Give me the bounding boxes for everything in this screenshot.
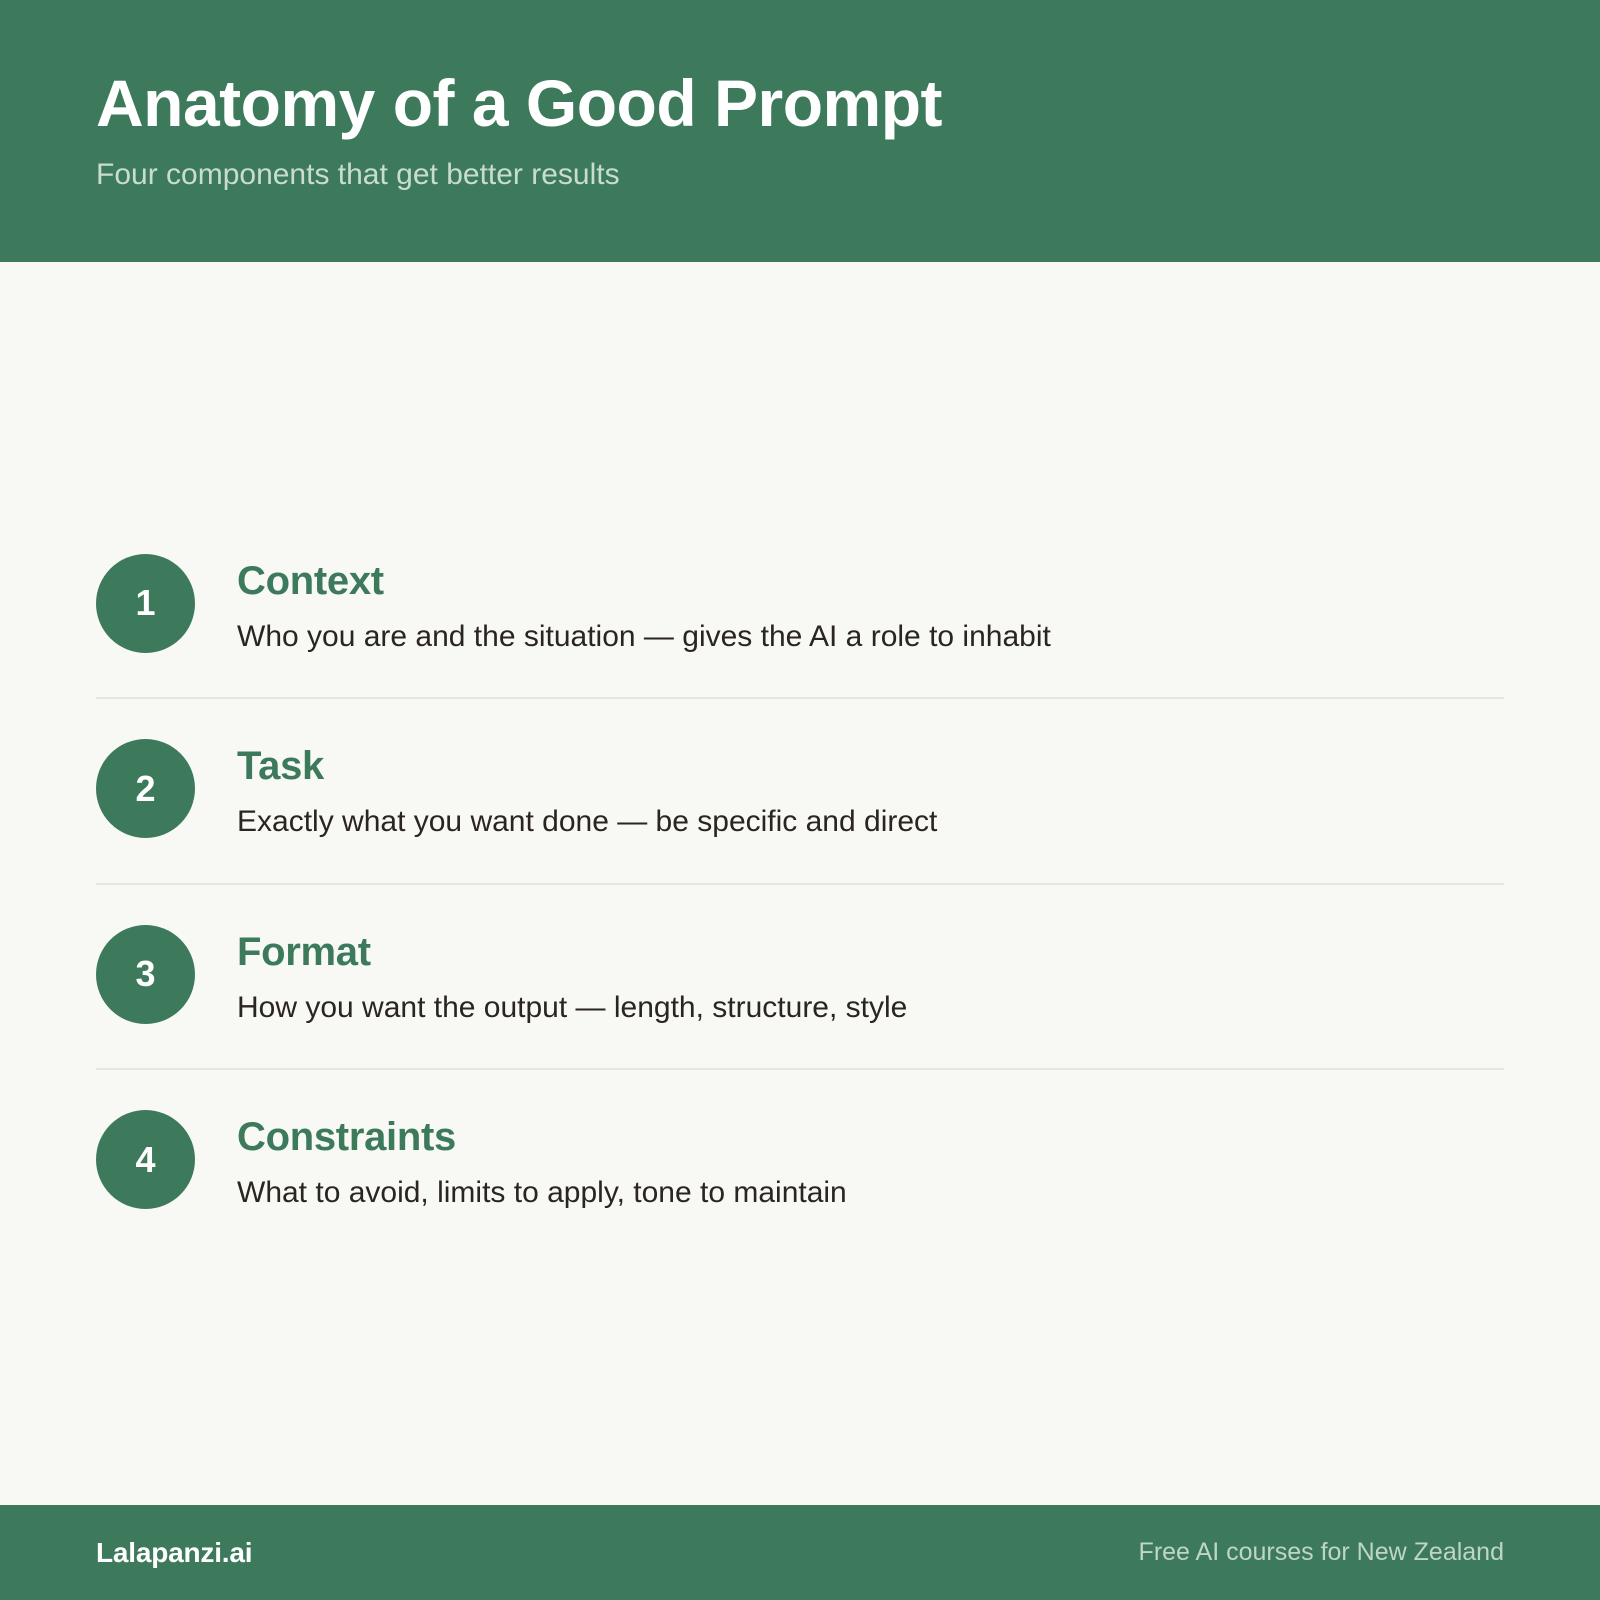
step-number-badge: 3 — [96, 925, 195, 1024]
list-item: 2 Task Exactly what you want done — be s… — [96, 699, 1504, 885]
page-subtitle: Four components that get better results — [96, 157, 1504, 193]
main-content: 1 Context Who you are and the situation … — [0, 262, 1600, 1505]
list-item-body: Format How you want the output — length,… — [237, 925, 1504, 1027]
footer-tagline: Free AI courses for New Zealand — [1139, 1538, 1504, 1567]
list-item-title: Constraints — [237, 1114, 1504, 1160]
list-item-description: What to avoid, limits to apply, tone to … — [237, 1174, 1504, 1212]
list-item-body: Task Exactly what you want done — be spe… — [237, 739, 1504, 841]
component-list: 1 Context Who you are and the situation … — [96, 514, 1504, 1254]
list-item: 4 Constraints What to avoid, limits to a… — [96, 1070, 1504, 1254]
list-item-description: Who you are and the situation — gives th… — [237, 618, 1504, 656]
list-item-description: Exactly what you want done — be specific… — [237, 803, 1504, 841]
header-band: Anatomy of a Good Prompt Four components… — [0, 0, 1600, 262]
list-item-body: Constraints What to avoid, limits to app… — [237, 1110, 1504, 1212]
brand-logo: Lalapanzi.ai — [96, 1537, 252, 1569]
list-item: 1 Context Who you are and the situation … — [96, 514, 1504, 700]
list-item-title: Context — [237, 558, 1504, 604]
list-item-description: How you want the output — length, struct… — [237, 989, 1504, 1027]
list-item: 3 Format How you want the output — lengt… — [96, 885, 1504, 1071]
list-item-body: Context Who you are and the situation — … — [237, 554, 1504, 656]
page-title: Anatomy of a Good Prompt — [96, 69, 1504, 139]
step-number-badge: 2 — [96, 739, 195, 838]
infographic-poster: Anatomy of a Good Prompt Four components… — [0, 0, 1600, 1600]
step-number-badge: 1 — [96, 554, 195, 653]
list-item-title: Format — [237, 929, 1504, 975]
step-number-badge: 4 — [96, 1110, 195, 1209]
list-item-title: Task — [237, 743, 1504, 789]
footer-band: Lalapanzi.ai Free AI courses for New Zea… — [0, 1505, 1600, 1600]
